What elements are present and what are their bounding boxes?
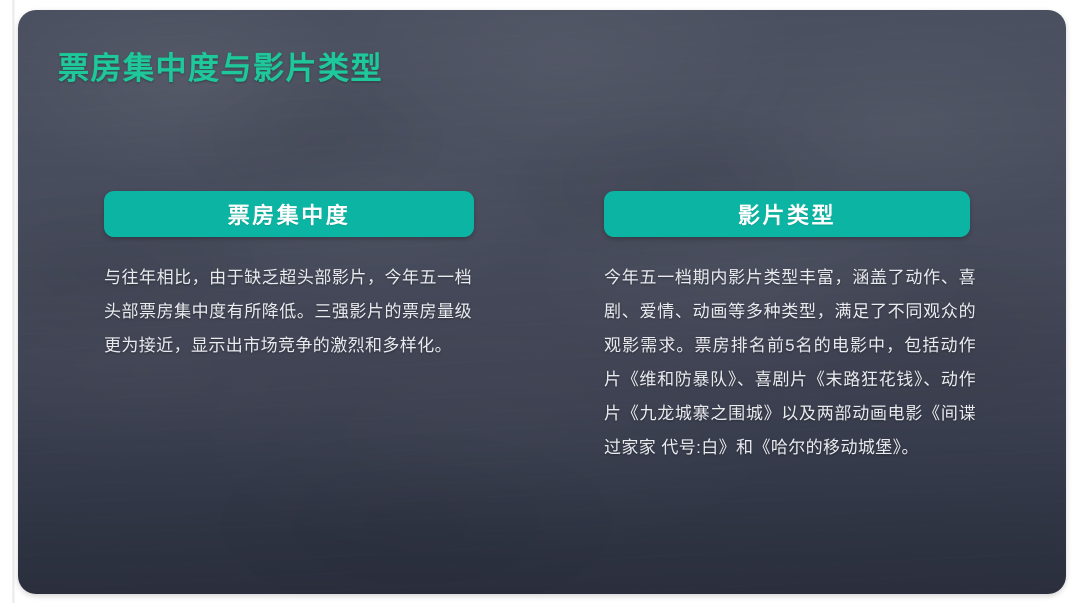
section-header-pill-left: 票房集中度 — [104, 191, 474, 237]
page-title: 票房集中度与影片类型 — [58, 43, 383, 88]
frame-left-seam — [12, 0, 15, 603]
slide-frame: 票房集中度与影片类型 票房集中度 与往年相比，由于缺乏超头部影片，今年五一档头部… — [0, 0, 1080, 603]
two-column-content: 票房集中度 与往年相比，由于缺乏超头部影片，今年五一档头部票房集中度有所降低。三… — [18, 191, 1066, 465]
section-header-label-right: 影片类型 — [738, 198, 836, 230]
section-header-pill-right: 影片类型 — [604, 191, 970, 237]
section-header-label-left: 票房集中度 — [228, 198, 351, 230]
section-body-left: 与往年相比，由于缺乏超头部影片，今年五一档头部票房集中度有所降低。三强影片的票房… — [104, 261, 472, 363]
column-film-genres: 影片类型 今年五一档期内影片类型丰富，涵盖了动作、喜剧、爱情、动画等多种类型，满… — [604, 191, 970, 465]
column-box-office-concentration: 票房集中度 与往年相比，由于缺乏超头部影片，今年五一档头部票房集中度有所降低。三… — [104, 191, 474, 465]
chalkboard-card: 票房集中度与影片类型 票房集中度 与往年相比，由于缺乏超头部影片，今年五一档头部… — [18, 10, 1066, 594]
section-body-right: 今年五一档期内影片类型丰富，涵盖了动作、喜剧、爱情、动画等多种类型，满足了不同观… — [604, 261, 976, 465]
